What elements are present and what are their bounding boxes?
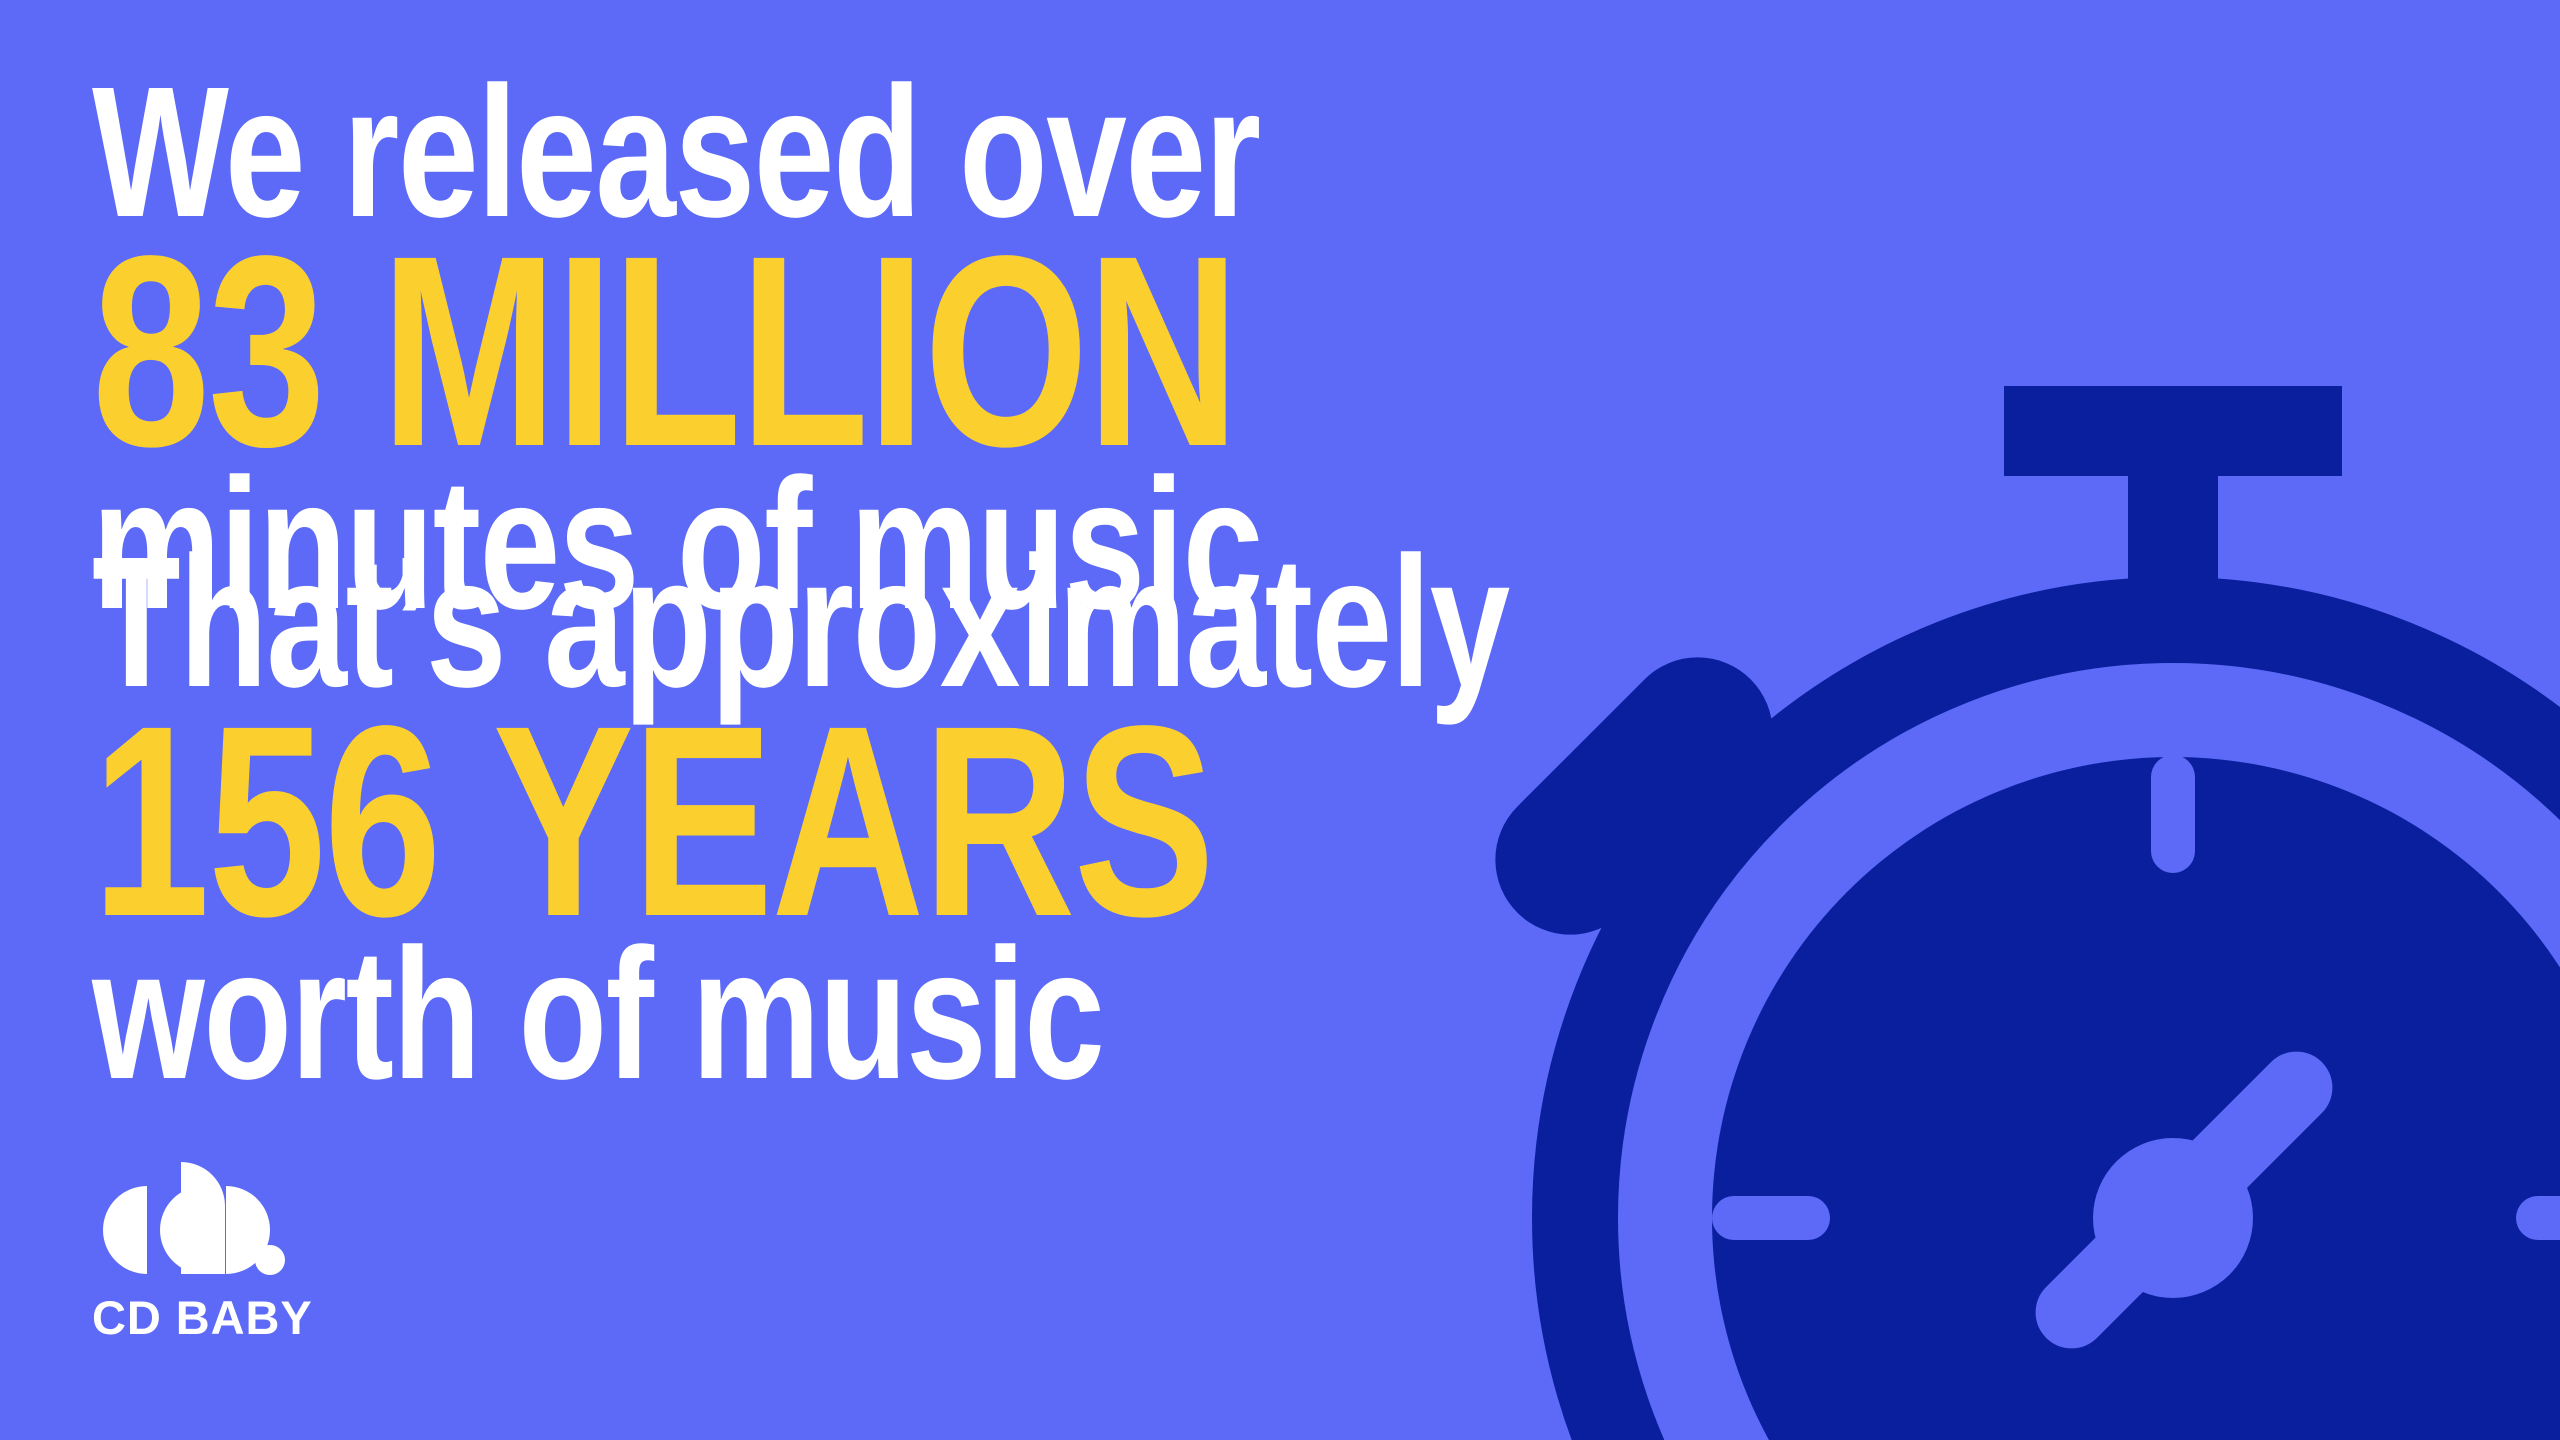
poster-canvas: We released over 83 MILLION minutes of m… xyxy=(0,0,2560,1440)
tick-12-icon xyxy=(2151,755,2195,873)
cd-baby-mark-icon xyxy=(92,1152,300,1286)
headline-line-6: worth of music xyxy=(92,922,1389,1108)
stopwatch-outer-ring xyxy=(1575,620,2560,1440)
tick-3-icon xyxy=(2516,1196,2560,1240)
cd-baby-wordmark: CD BABY xyxy=(92,1294,412,1341)
stopwatch-tick-marks xyxy=(1712,755,2560,1240)
stopwatch-crown-icon xyxy=(2004,386,2342,646)
stopwatch-dial xyxy=(1712,757,2560,1440)
tick-9-icon xyxy=(1712,1196,1830,1240)
cd-baby-logo[interactable]: CD BABY xyxy=(92,1152,412,1341)
stopwatch-hand-icon xyxy=(2021,1037,2348,1364)
